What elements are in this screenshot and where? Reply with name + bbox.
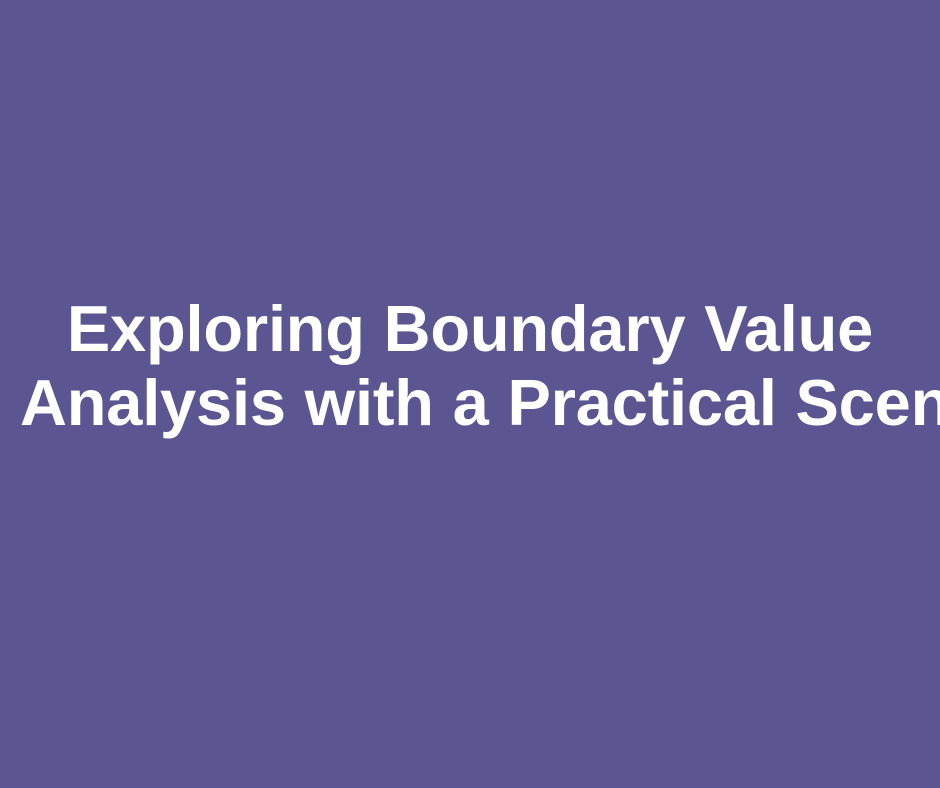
page-title-line-1: Exploring Boundary Value <box>20 292 920 366</box>
page-title: Exploring Boundary Value Analysis with a… <box>20 292 920 440</box>
title-card: Exploring Boundary Value Analysis with a… <box>0 0 940 788</box>
page-title-line-2: Analysis with a Practical Scenario <box>20 366 920 440</box>
title-block: Exploring Boundary Value Analysis with a… <box>20 292 920 440</box>
